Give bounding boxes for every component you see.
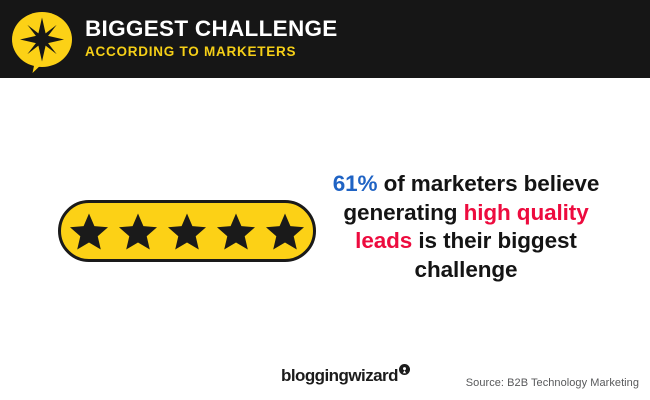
statistic-value: 61% xyxy=(333,171,378,196)
brand-name-label: bloggingwizard xyxy=(281,367,398,384)
speech-bubble-star-icon xyxy=(11,10,73,72)
star-icon xyxy=(265,211,305,251)
source-attribution: Source: B2B Technology Marketing xyxy=(466,377,639,389)
page-subtitle: ACCORDING TO MARKETERS xyxy=(85,44,338,60)
five-star-rating-badge xyxy=(58,200,316,262)
statement-text-part-2: is their biggest challenge xyxy=(412,228,577,282)
statistic-statement: 61% of marketers believe generating high… xyxy=(322,170,610,284)
star-icon xyxy=(69,211,109,251)
header-text-group: BIGGEST CHALLENGE ACCORDING TO MARKETERS xyxy=(85,17,338,59)
star-icon xyxy=(216,211,256,251)
bloggingwizard-logo[interactable]: bloggingwizard xyxy=(281,367,410,387)
star-icon xyxy=(118,211,158,251)
star-icon xyxy=(167,211,207,251)
brand-logo xyxy=(11,10,73,72)
registered-mark-icon xyxy=(399,364,410,375)
header-bar: BIGGEST CHALLENGE ACCORDING TO MARKETERS xyxy=(0,0,650,78)
page-title: BIGGEST CHALLENGE xyxy=(85,17,338,42)
